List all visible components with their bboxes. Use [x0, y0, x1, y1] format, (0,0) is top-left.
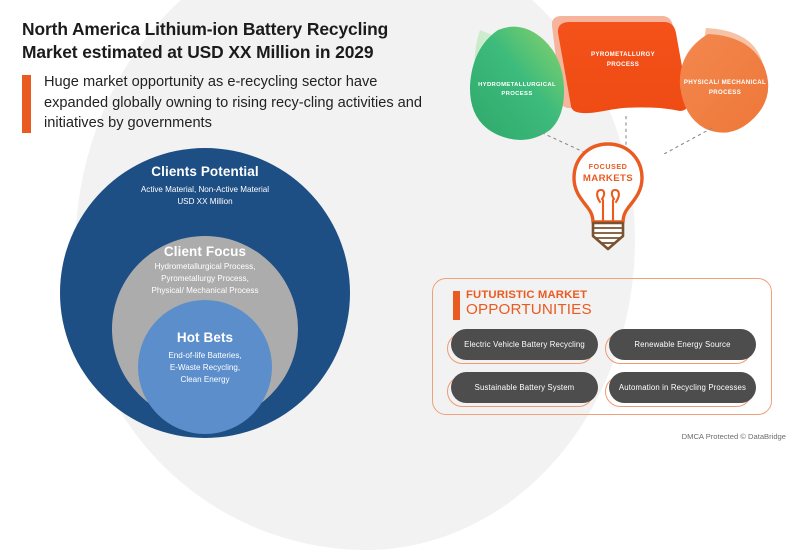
- clients-potential-title: Clients Potential: [60, 164, 350, 179]
- hub-label-line2: MARKETS: [548, 173, 668, 184]
- client-focus-body: Hydrometallurgical Process,Pyrometallurg…: [60, 261, 350, 297]
- focused-markets-hub: FOCUSED MARKETS: [548, 132, 668, 258]
- lightbulb-icon: [548, 132, 668, 258]
- pill-row: Electric Vehicle Battery Recycling Renew…: [451, 329, 757, 361]
- hot-bets-title: Hot Bets: [60, 330, 350, 345]
- connector-physical: [664, 128, 712, 154]
- opportunities-accent-bar: [453, 291, 460, 320]
- futuristic-opportunities-panel: FUTURISTIC MARKET OPPORTUNITIES Electric…: [432, 278, 772, 415]
- opportunity-item[interactable]: Sustainable Battery System: [451, 372, 598, 404]
- petal-label-pyro-line2: PROCESS: [607, 61, 639, 68]
- opportunities-header: FUTURISTIC MARKET OPPORTUNITIES: [453, 290, 592, 318]
- hot-bets-label: Hot Bets End-of-life Batteries,E-Waste R…: [60, 330, 350, 386]
- pill-row: Sustainable Battery System Automation in…: [451, 372, 757, 404]
- opportunities-pill-grid: Electric Vehicle Battery Recycling Renew…: [451, 329, 757, 415]
- page-title: North America Lithium-ion Battery Recycl…: [22, 18, 442, 64]
- petal-label-hydro-line2: PROCESS: [501, 91, 532, 97]
- copyright-footer: DMCA Protected © DataBridge: [682, 432, 786, 441]
- page-subtitle: Huge market opportunity as e-recycling s…: [44, 72, 442, 134]
- opportunity-pill-label[interactable]: Automation in Recycling Processes: [609, 372, 756, 403]
- client-focus-title: Client Focus: [60, 244, 350, 259]
- hub-label-line1: FOCUSED: [548, 162, 668, 171]
- hot-bets-body: End-of-life Batteries,E-Waste Recycling,…: [60, 350, 350, 386]
- concentric-circles-diagram: Clients Potential Active Material, Non-A…: [60, 148, 350, 438]
- bulb-base: [593, 223, 623, 249]
- opportunity-item[interactable]: Automation in Recycling Processes: [609, 372, 756, 404]
- petal-label-pyro-line1: PYROMETALLURGY: [591, 51, 655, 58]
- subtitle-accent-bar: [22, 75, 31, 133]
- opportunities-title-line2: OPPORTUNITIES: [466, 302, 592, 318]
- client-focus-label: Client Focus Hydrometallurgical Process,…: [60, 244, 350, 297]
- petal-label-hydro-line1: HYDROMETALLURGICAL: [478, 82, 556, 88]
- opportunity-item[interactable]: Electric Vehicle Battery Recycling: [451, 329, 598, 361]
- opportunity-pill-label[interactable]: Sustainable Battery System: [451, 372, 598, 403]
- opportunity-item[interactable]: Renewable Energy Source: [609, 329, 756, 361]
- opportunity-pill-label[interactable]: Electric Vehicle Battery Recycling: [451, 329, 598, 360]
- petal-label-physical-line2: PROCESS: [709, 89, 741, 96]
- heading-block: North America Lithium-ion Battery Recycl…: [22, 18, 442, 134]
- opportunity-pill-label[interactable]: Renewable Energy Source: [609, 329, 756, 360]
- clients-potential-body: Active Material, Non-Active MaterialUSD …: [60, 184, 350, 208]
- infographic-canvas: North America Lithium-ion Battery Recycl…: [0, 0, 800, 450]
- subtitle-block: Huge market opportunity as e-recycling s…: [22, 72, 442, 134]
- petal-label-physical-line1: PHYSICAL/ MECHANICAL: [684, 79, 766, 86]
- clients-potential-label: Clients Potential Active Material, Non-A…: [60, 164, 350, 208]
